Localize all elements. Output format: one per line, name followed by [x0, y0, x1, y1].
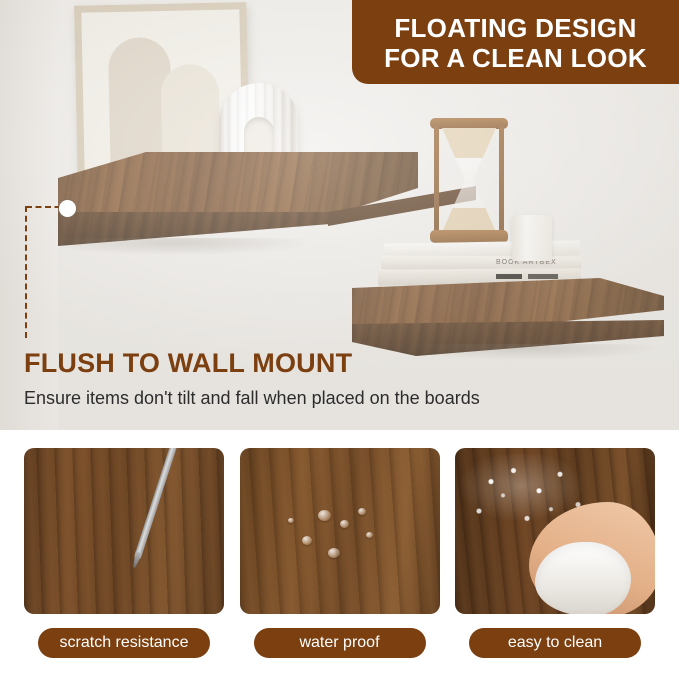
- feature-card-scratch-resistance: scratch resistance: [24, 448, 224, 658]
- hourglass-top-cap: [430, 118, 508, 129]
- hourglass-sand-top: [442, 128, 496, 158]
- wood-texture: [24, 448, 224, 614]
- cleaning-cloth: [535, 542, 631, 614]
- water-droplet: [358, 508, 366, 515]
- hourglass-post-left: [434, 126, 439, 236]
- wood-texture: [240, 448, 440, 614]
- screwdriver-tip: [131, 551, 143, 568]
- page-title: FLUSH TO WALL MOUNT: [24, 348, 654, 379]
- hourglass: [430, 118, 508, 244]
- page-subtitle: Ensure items don't tilt and fall when pl…: [24, 388, 654, 409]
- headline-block: FLUSH TO WALL MOUNT Ensure items don't t…: [24, 348, 654, 409]
- banner-line-2: FOR A CLEAN LOOK: [384, 43, 647, 73]
- floating-shelf-upper: [58, 152, 418, 264]
- feature-label-easy-to-clean: easy to clean: [469, 628, 641, 658]
- feature-label-scratch-resistance: scratch resistance: [38, 628, 210, 658]
- water-droplet: [288, 518, 294, 523]
- feature-card-list: scratch resistance water proof: [24, 448, 655, 658]
- hourglass-sand-bottom: [442, 208, 496, 232]
- water-droplet: [302, 536, 312, 545]
- header-banner: FLOATING DESIGN FOR A CLEAN LOOK: [352, 0, 679, 84]
- water-droplet: [328, 548, 340, 558]
- scratch-resistance-photo: [24, 448, 224, 614]
- shelf-upper-shadow: [58, 238, 358, 262]
- banner-line-1: FLOATING DESIGN: [394, 13, 636, 43]
- water-droplet: [318, 510, 331, 521]
- flush-mount-callout: [24, 200, 76, 340]
- water-proof-photo: [240, 448, 440, 614]
- feature-card-water-proof: water proof: [240, 448, 440, 658]
- art-shape-arch-small: [160, 64, 220, 161]
- feature-label-water-proof: water proof: [254, 628, 426, 658]
- feature-card-easy-to-clean: easy to clean: [455, 448, 655, 658]
- product-feature-page: BOOK ARTBEX FLOATING DESIGN FOR A CLEAN …: [0, 0, 679, 679]
- water-droplet: [340, 520, 349, 528]
- flush-mount-indicator-dot: [59, 200, 76, 217]
- easy-to-clean-photo: [455, 448, 655, 614]
- callout-vertical-dashed-line: [25, 206, 27, 338]
- hourglass-post-right: [499, 126, 504, 236]
- hourglass-sand: [442, 128, 496, 232]
- pillar-candle: [512, 215, 552, 261]
- water-droplet: [366, 532, 373, 538]
